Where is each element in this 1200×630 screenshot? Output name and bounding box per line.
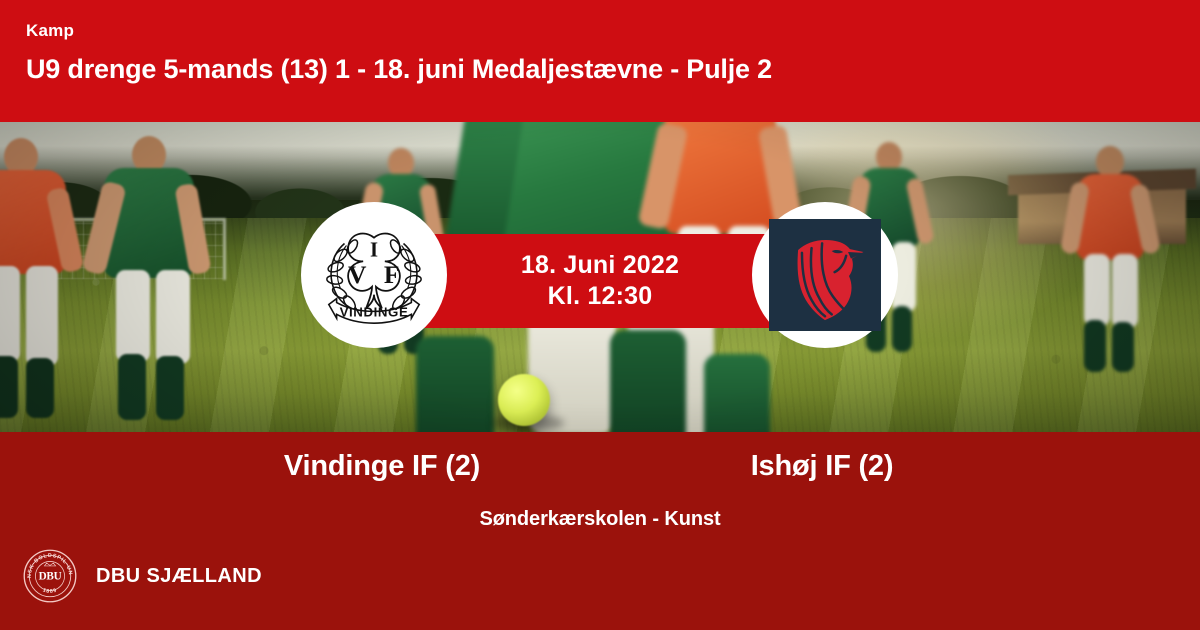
ishoj-if-logo [769, 219, 881, 331]
match-venue: Sønderkærskolen - Kunst [0, 508, 1200, 531]
header-kicker: Kamp [26, 22, 1200, 41]
svg-text:VINDINGE: VINDINGE [340, 304, 409, 319]
dbu-seal-logo: DANSK·BOLDSPIL·UNION 1889 DBU [22, 548, 78, 604]
vindinge-crest-icon: I V F VINDINGE [315, 216, 433, 334]
footer-branding: DANSK·BOLDSPIL·UNION 1889 DBU DBU SJÆLLA… [22, 548, 262, 604]
match-time: Kl. 12:30 [548, 281, 653, 312]
match-date: 18. Juni 2022 [521, 250, 679, 281]
svg-text:V: V [348, 260, 367, 289]
svg-text:1889: 1889 [42, 587, 58, 595]
home-team-name: Vindinge IF (2) [180, 450, 584, 483]
away-team-crest[interactable] [752, 202, 898, 348]
eagle-head-icon [777, 227, 873, 323]
match-poster: Kamp U9 drenge 5-mands (13) 1 - 18. juni… [0, 0, 1200, 630]
poster-header: Kamp U9 drenge 5-mands (13) 1 - 18. juni… [0, 0, 1200, 122]
svg-text:F: F [384, 260, 400, 289]
dbu-seal-icon: DANSK·BOLDSPIL·UNION 1889 DBU [22, 548, 78, 604]
svg-text:I: I [370, 239, 378, 261]
page-title: U9 drenge 5-mands (13) 1 - 18. juni Meda… [26, 54, 1200, 85]
svg-text:DBU: DBU [39, 570, 62, 582]
team-names-row: Vindinge IF (2) Ishøj IF (2) [0, 450, 1200, 496]
away-team-name: Ishøj IF (2) [620, 450, 1024, 483]
home-team-crest[interactable]: I V F VINDINGE [301, 202, 447, 348]
footer-organisation: DBU SJÆLLAND [96, 565, 262, 588]
vindinge-if-logo: I V F VINDINGE [315, 216, 433, 334]
